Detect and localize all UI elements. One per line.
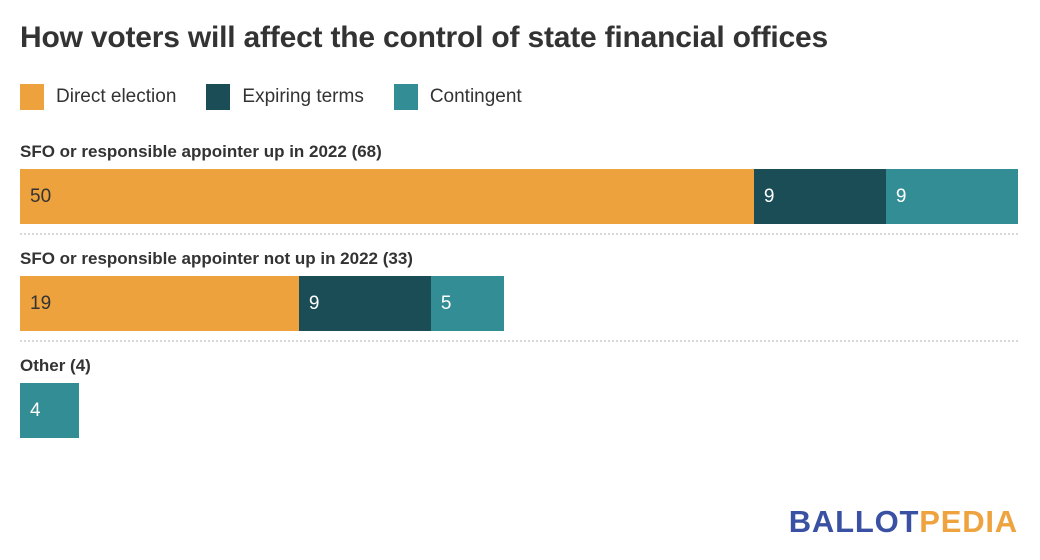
bar-segment-value: 4 xyxy=(20,401,41,420)
legend-swatch-contingent xyxy=(394,84,418,110)
legend-swatch-expiring-terms xyxy=(206,84,230,110)
bar-segment[interactable]: 5 xyxy=(431,276,504,331)
bar-group-label: SFO or responsible appointer not up in 2… xyxy=(20,243,1040,276)
ballotpedia-logo: BALLOTPEDIA xyxy=(789,504,1018,540)
bar-segment-value: 9 xyxy=(754,187,775,206)
bar-segment[interactable]: 50 xyxy=(20,169,754,224)
bar-group-label: Other (4) xyxy=(20,350,1040,383)
bar-segment-value: 5 xyxy=(431,294,452,313)
bar-segment[interactable]: 9 xyxy=(886,169,1018,224)
legend-item[interactable]: Expiring terms xyxy=(206,84,363,110)
legend-item[interactable]: Contingent xyxy=(394,84,522,110)
bar-segment-value: 9 xyxy=(299,294,320,313)
group-separator xyxy=(20,339,1018,342)
bar-group: SFO or responsible appointer up in 2022 … xyxy=(0,136,1040,224)
stacked-bar: 4 xyxy=(20,383,1040,438)
logo-text-ballot: BALLOT xyxy=(789,504,920,539)
bar-segment-value: 50 xyxy=(20,187,51,206)
legend-swatch-direct-election xyxy=(20,84,44,110)
bar-segment-value: 9 xyxy=(886,187,907,206)
chart-legend: Direct electionExpiring termsContingent xyxy=(20,84,552,110)
bar-segment[interactable]: 9 xyxy=(754,169,886,224)
chart-title: How voters will affect the control of st… xyxy=(20,21,828,55)
bar-group: Other (4)4 xyxy=(0,350,1040,438)
legend-item[interactable]: Direct election xyxy=(20,84,176,110)
logo-text-pedia: PEDIA xyxy=(919,504,1018,539)
bar-segment[interactable]: 4 xyxy=(20,383,79,438)
legend-item-label: Direct election xyxy=(56,86,176,108)
legend-item-label: Expiring terms xyxy=(242,86,363,108)
stacked-bar: 5099 xyxy=(20,169,1040,224)
stacked-bar: 1995 xyxy=(20,276,1040,331)
chart-container: How voters will affect the control of st… xyxy=(0,0,1040,560)
bar-segment-value: 19 xyxy=(20,294,51,313)
bar-segment[interactable]: 9 xyxy=(299,276,431,331)
bar-segment[interactable]: 19 xyxy=(20,276,299,331)
bar-group: SFO or responsible appointer not up in 2… xyxy=(0,243,1040,331)
legend-item-label: Contingent xyxy=(430,86,522,108)
bar-groups: SFO or responsible appointer up in 2022 … xyxy=(0,136,1040,438)
bar-group-label: SFO or responsible appointer up in 2022 … xyxy=(20,136,1040,169)
group-separator xyxy=(20,232,1018,235)
